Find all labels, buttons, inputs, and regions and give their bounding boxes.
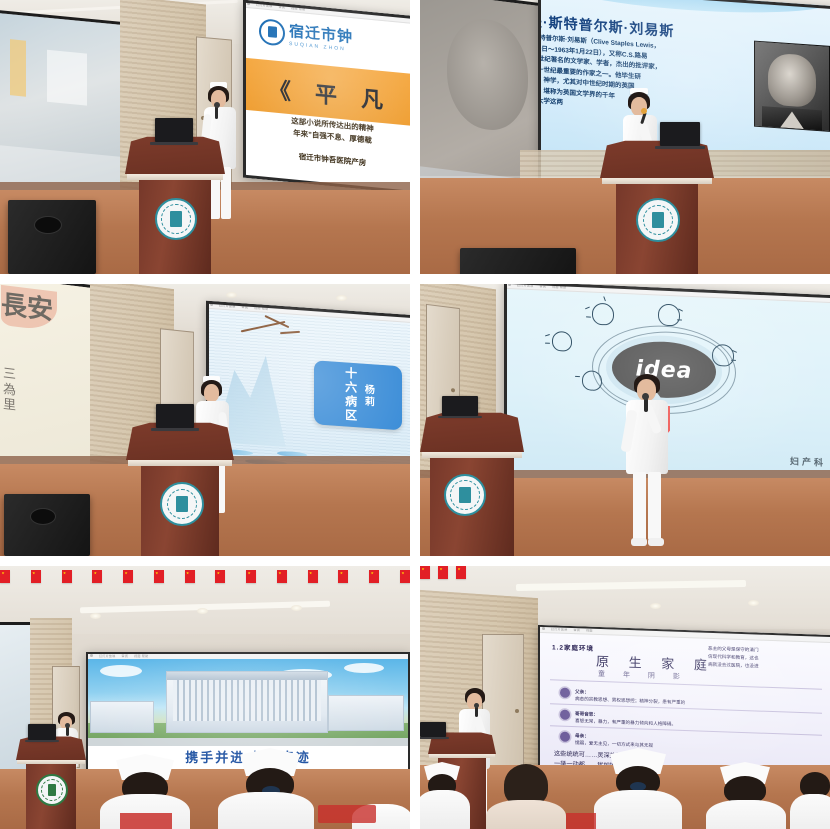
flag-icon [62, 570, 72, 583]
podium [125, 136, 225, 274]
flag-icon [420, 566, 430, 579]
microphone-head-icon [641, 108, 647, 114]
microphone-head-icon [474, 703, 479, 708]
microphone-head-icon [65, 723, 70, 728]
photo-panel-1[interactable]: 幻灯片放映 审阅 视图 帮助 宿迁市钟 SUQIAN ZHON 《 平 凡 这部… [0, 0, 410, 274]
photo-panel-2[interactable]: 夫·斯特普尔斯·刘易斯 夫·斯特普尔斯·刘易斯（Clive Staples Le… [420, 0, 830, 274]
microphone-icon [644, 398, 648, 412]
flag-icon [246, 570, 256, 583]
hospital-emblem-icon [636, 198, 680, 242]
laptop-icon [420, 722, 446, 737]
photo-panel-3[interactable]: 長安 三為里 幻灯片放映 审阅 视图 帮助 [0, 284, 410, 556]
flag-icon [438, 566, 448, 579]
hospital-emblem-icon [444, 474, 486, 516]
microphone-head-icon [214, 102, 220, 108]
torso-back [706, 800, 786, 829]
flag-bunting [0, 570, 410, 583]
torso-back [594, 790, 682, 829]
audience-member [218, 748, 316, 829]
photo-panel-4[interactable]: 幻灯片放映 审阅 视图 帮助 idea [420, 284, 830, 556]
laptop-icon [442, 396, 478, 416]
screen-frame [243, 0, 410, 194]
flag-icon [185, 570, 195, 583]
head [204, 384, 219, 402]
calligraphy-text: 長安 [1, 291, 53, 323]
laptop-icon [28, 724, 56, 740]
flag-icon [456, 566, 466, 579]
podium [126, 422, 234, 556]
audience-member [790, 772, 830, 829]
flag-icon [338, 570, 348, 583]
laptop-icon [155, 118, 193, 142]
podium [16, 736, 86, 829]
presenter-figure [620, 374, 676, 552]
chair-back [318, 805, 376, 823]
photo-panel-5[interactable]: 幻灯片放映 审阅 视图 帮助 携手并进 [0, 566, 410, 829]
microphone-head-icon [642, 393, 649, 400]
hospital-emblem-icon [160, 482, 204, 526]
audience-member [486, 764, 566, 829]
photo-collage: 幻灯片放映 审阅 视图 帮助 宿迁市钟 SUQIAN ZHON 《 平 凡 这部… [0, 0, 830, 829]
podium [420, 412, 524, 556]
torso-back [218, 792, 314, 829]
audience-member [706, 762, 786, 829]
torso-back [790, 794, 830, 829]
leg [648, 472, 661, 540]
flag-icon [154, 570, 164, 583]
subwoofer-icon [460, 248, 576, 274]
flag-icon [215, 570, 225, 583]
flag-icon [0, 570, 10, 583]
photo-panel-6[interactable]: 幻灯片放映 审阅 视图 1.2家庭环境 原 生 家 庭 童 年 阴 影 恶主的父… [420, 566, 830, 829]
chair-back [566, 813, 596, 829]
flag-icon [400, 570, 410, 583]
laptop-icon [156, 404, 194, 428]
flag-icon [123, 570, 133, 583]
leg [633, 472, 646, 540]
flag-icon [277, 570, 287, 583]
flag-icon [369, 570, 379, 583]
torso-back [486, 800, 566, 829]
hospital-emblem-icon [36, 774, 68, 806]
audience-member [420, 762, 470, 829]
flag-icon [31, 570, 41, 583]
laptop-icon [660, 122, 700, 146]
flag-icon [308, 570, 318, 583]
shoe [648, 538, 664, 546]
torso-back [420, 790, 470, 829]
subwoofer-icon [8, 200, 96, 274]
shoe [631, 538, 647, 546]
audience-member [594, 748, 682, 829]
flag-bunting [420, 566, 466, 579]
chair-back [120, 813, 172, 829]
podium [600, 140, 714, 274]
flag-icon [92, 570, 102, 583]
main-projection-screen: 幻灯片放映 审阅 视图 帮助 宿迁市钟 SUQIAN ZHON 《 平 凡 这部… [243, 0, 410, 194]
hospital-emblem-icon [155, 198, 197, 240]
subwoofer-icon [4, 494, 90, 556]
